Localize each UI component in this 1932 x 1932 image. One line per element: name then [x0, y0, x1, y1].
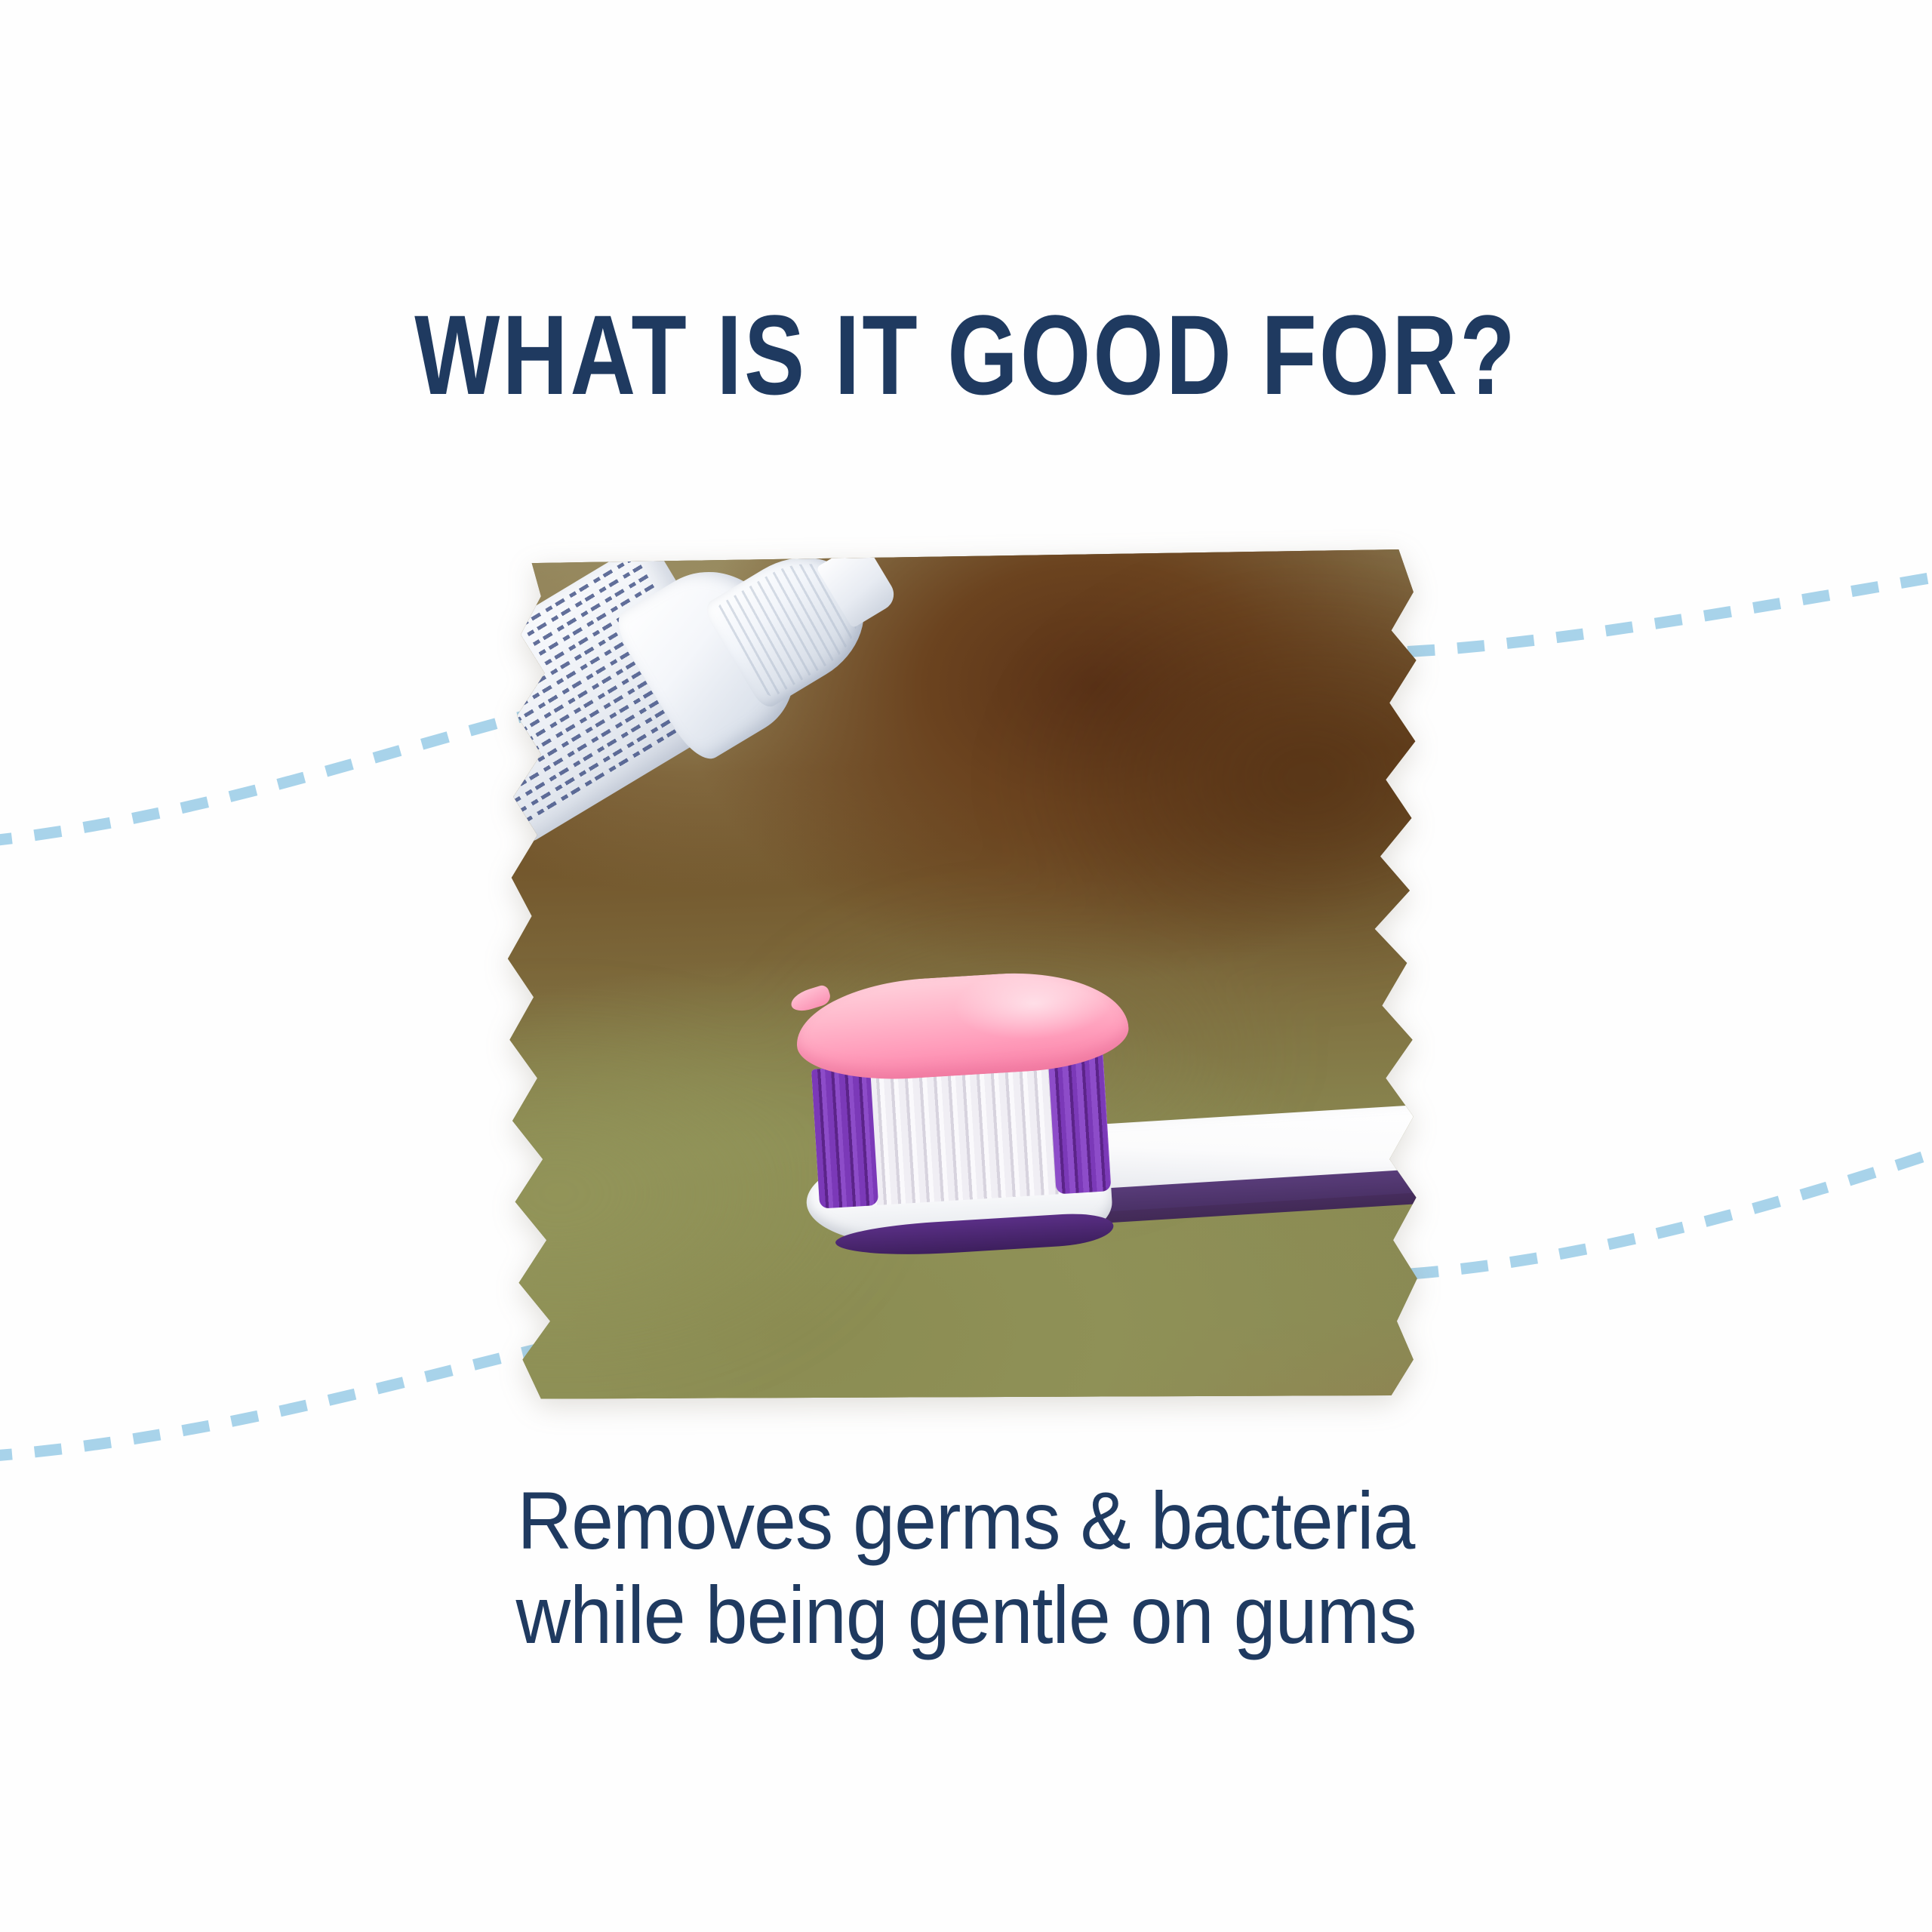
bristles-outer-left — [811, 1066, 878, 1208]
photo-caption: Removes germs & bacteria while being gen… — [68, 1473, 1865, 1663]
toothbrush — [782, 981, 1426, 1311]
bristles-outer-right — [1048, 1051, 1112, 1194]
page-title: WHAT IS IT GOOD FOR? — [193, 298, 1739, 411]
caption-line-2: while being gentle on gums — [68, 1567, 1865, 1662]
product-photo — [504, 549, 1426, 1402]
caption-line-1: Removes germs & bacteria — [68, 1473, 1865, 1567]
page-canvas: WHAT IS IT GOOD FOR? — [0, 0, 1932, 1932]
torn-paper-photo-frame — [504, 549, 1426, 1402]
